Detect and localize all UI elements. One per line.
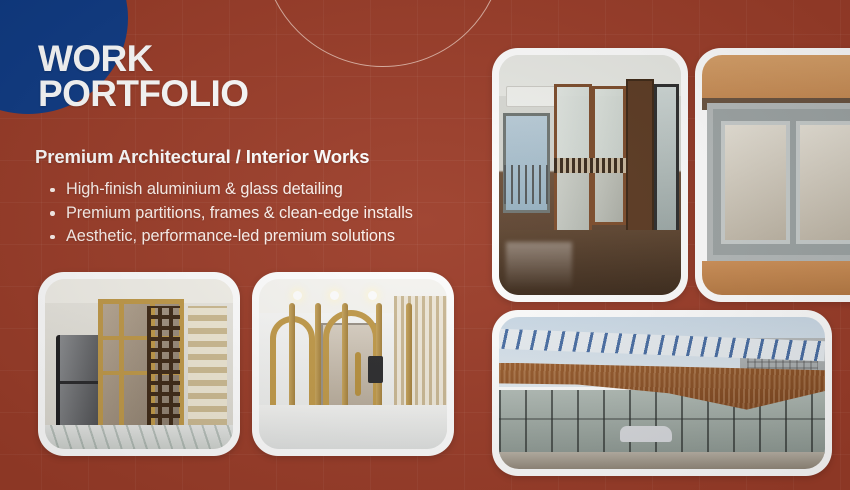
work-portfolio-slide: WORK PORTFOLIO Premium Architectural / I… xyxy=(0,0,850,490)
gallery-card-aluminium-sliding-window[interactable] xyxy=(695,48,850,302)
bullet-dot-icon xyxy=(50,188,55,193)
list-item-label: High-finish aluminium & glass detailing xyxy=(66,180,343,198)
list-item: Aesthetic, performance-led premium solut… xyxy=(44,225,413,249)
gallery-card-brass-screen-corridor[interactable] xyxy=(252,272,454,456)
photo-brass-screen-corridor xyxy=(259,279,447,449)
bullet-dot-icon xyxy=(50,211,55,216)
photo-aluminium-sliding-window xyxy=(702,55,850,295)
photo-building-facade xyxy=(499,317,825,469)
section-subtitle: Premium Architectural / Interior Works xyxy=(35,146,369,168)
photo-glass-partition-room xyxy=(499,55,681,295)
page-title: WORK PORTFOLIO xyxy=(38,41,248,111)
gallery-card-glass-partition-room[interactable] xyxy=(492,48,688,302)
list-item: High-finish aluminium & glass detailing xyxy=(44,178,413,202)
gallery-card-building-facade[interactable] xyxy=(492,310,832,476)
list-item-label: Aesthetic, performance-led premium solut… xyxy=(66,227,395,245)
bullet-dot-icon xyxy=(50,235,55,240)
photo-brass-wine-cabinet xyxy=(45,279,233,449)
gallery-card-brass-wine-cabinet[interactable] xyxy=(38,272,240,456)
list-item: Premium partitions, frames & clean-edge … xyxy=(44,202,413,226)
feature-list: High-finish aluminium & glass detailing … xyxy=(44,178,413,249)
list-item-label: Premium partitions, frames & clean-edge … xyxy=(66,204,413,222)
ring-outline-decor xyxy=(262,0,504,67)
